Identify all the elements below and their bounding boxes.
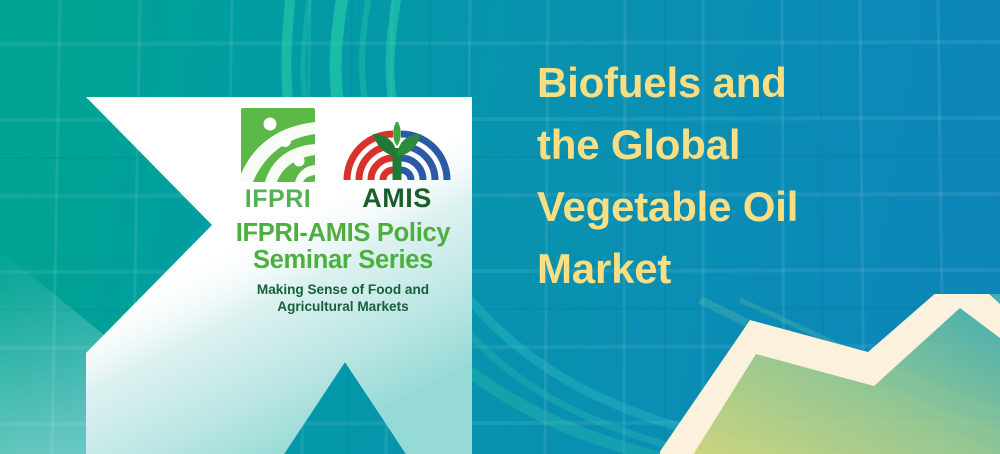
rising-line-chart-arrow-icon [660,294,1000,454]
amis-mark-icon: AMIS [343,108,451,212]
ifpri-logo: IFPRI [235,108,331,212]
logo-row: IFPRI [212,104,474,212]
amis-wordmark: AMIS [362,183,432,212]
ifpri-wordmark: IFPRI [245,185,311,212]
logo-panel-content: IFPRI [212,104,474,316]
page-title: Biofuels and the Global Vegetable Oil Ma… [537,52,957,301]
series-title: IFPRI-AMIS Policy Seminar Series [212,220,474,275]
amis-logo: AMIS [343,108,451,212]
ifpri-mark-icon: IFPRI [235,108,331,212]
seminar-banner: IFPRI [0,0,1000,454]
series-subtitle: Making Sense of Food and Agricultural Ma… [212,282,474,316]
